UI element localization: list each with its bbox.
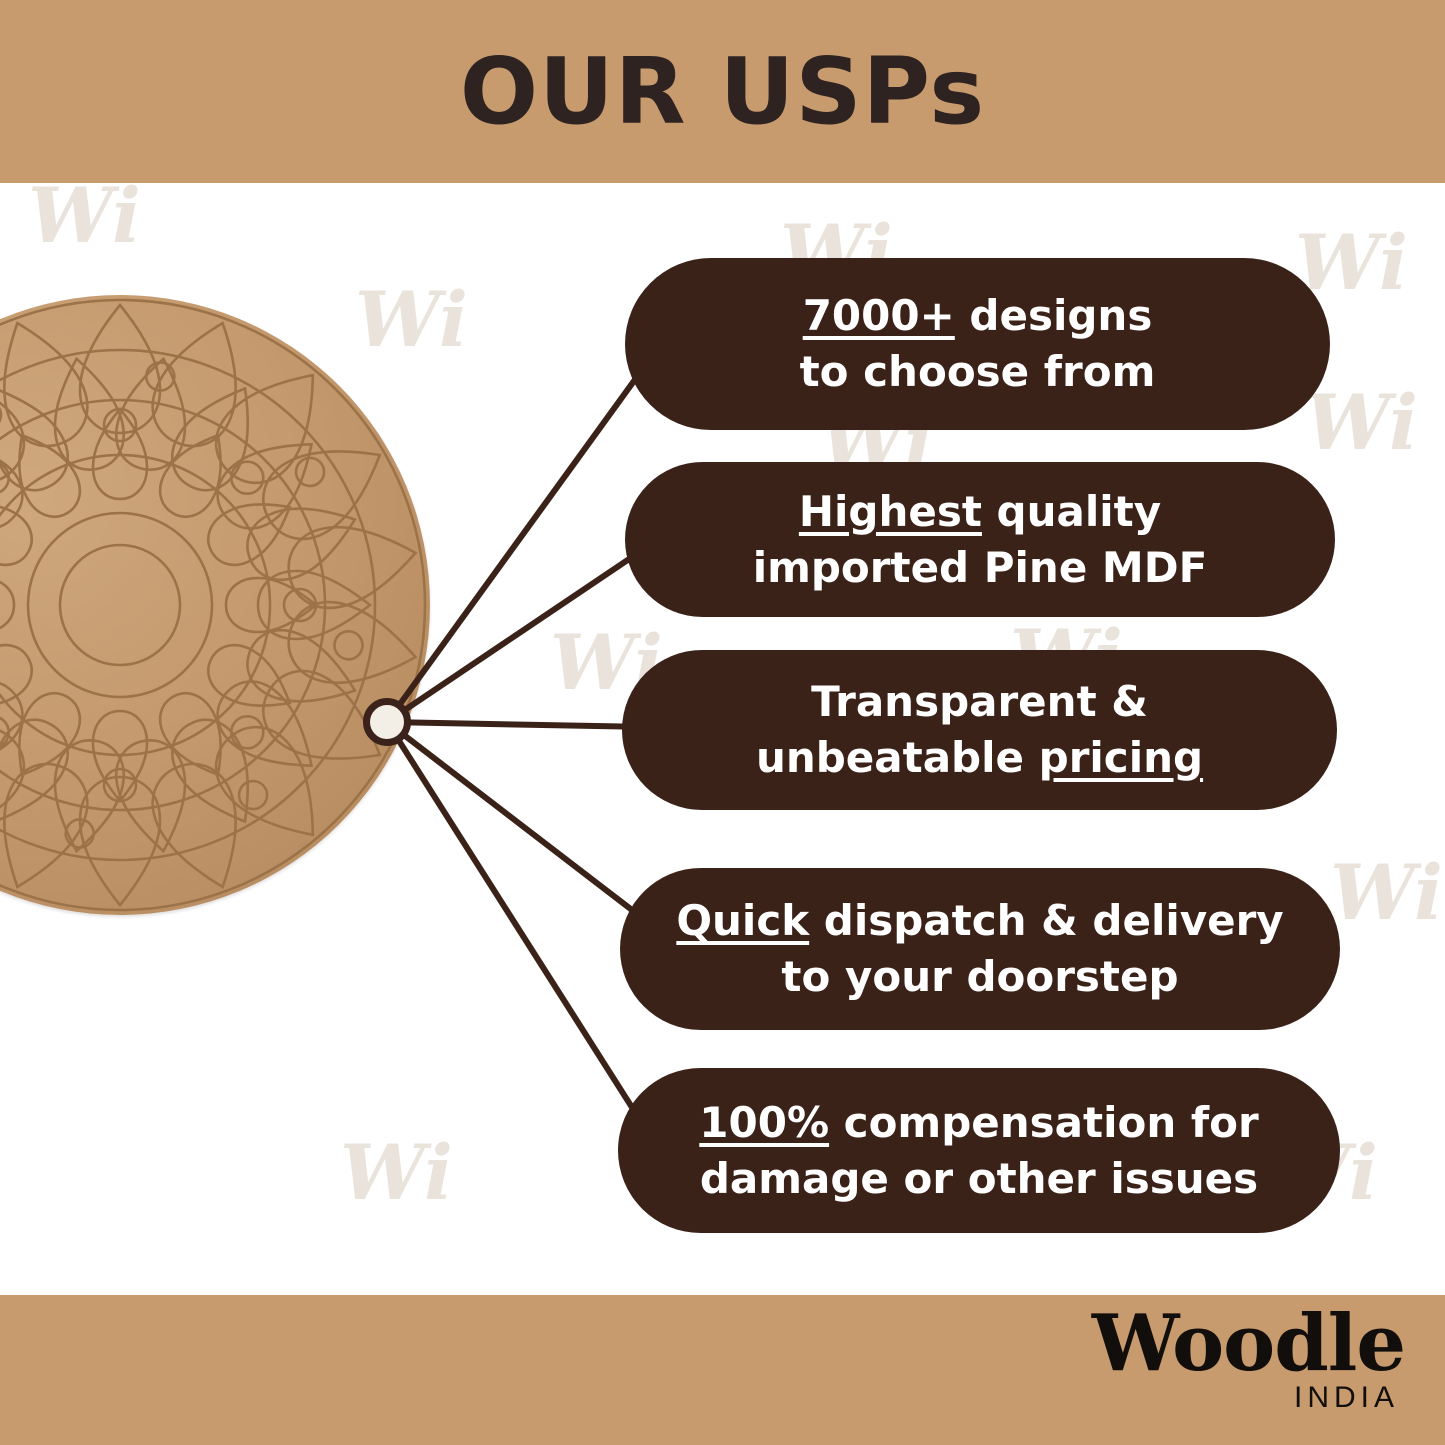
usp-pill-compensation[interactable]: 100% compensation for damage or other is… [618, 1068, 1340, 1233]
watermark-logo: Wi [1330, 855, 1443, 931]
usp-pill-pricing[interactable]: Transparent & unbeatable pricing [622, 650, 1337, 810]
brand-logo: Woodle INDIA [985, 1303, 1405, 1433]
brand-name: Woodle [985, 1303, 1405, 1385]
mandala-engraving [0, 295, 450, 955]
usp-dispatch-line2: to your doorstep [781, 952, 1178, 1001]
watermark-logo: Wi [1305, 385, 1418, 461]
page-title: OUR USPs [0, 0, 1445, 183]
usp-pill-designs[interactable]: 7000+ designs to choose from [625, 258, 1330, 430]
infographic-canvas: Wi Wi Wi Wi Wi Wi Wi Wi Wi Wi Wi [0, 0, 1445, 1445]
usp-pill-designs-text: 7000+ designs to choose from [655, 288, 1300, 400]
usp-quality-line1-rest: quality [982, 487, 1161, 536]
usp-quality-highlight: Highest [799, 487, 982, 536]
watermark-logo: Wi [28, 178, 141, 254]
usp-compensation-highlight: 100% [699, 1098, 829, 1147]
usp-designs-highlight: 7000+ [803, 291, 955, 340]
usp-pricing-highlight: pricing [1039, 733, 1203, 782]
usp-designs-line1-rest: designs [955, 291, 1153, 340]
usp-pill-compensation-text: 100% compensation for damage or other is… [648, 1095, 1310, 1207]
usp-pill-dispatch[interactable]: Quick dispatch & delivery to your doorst… [620, 868, 1340, 1030]
usp-quality-line2: imported Pine MDF [753, 543, 1208, 592]
usp-pricing-line2-rest: unbeatable [756, 733, 1039, 782]
usp-compensation-line2: damage or other issues [700, 1154, 1258, 1203]
usp-pill-pricing-text: Transparent & unbeatable pricing [652, 674, 1307, 786]
usp-pill-quality-text: Highest quality imported Pine MDF [655, 484, 1305, 596]
usp-pill-quality[interactable]: Highest quality imported Pine MDF [625, 462, 1335, 617]
usp-pill-dispatch-text: Quick dispatch & delivery to your doorst… [650, 893, 1310, 1005]
usp-dispatch-highlight: Quick [676, 896, 809, 945]
hub-node [363, 698, 411, 746]
usp-dispatch-line1-rest: dispatch & delivery [809, 896, 1284, 945]
usp-pricing-line1: Transparent & [811, 677, 1148, 726]
usp-compensation-line1-rest: compensation for [829, 1098, 1259, 1147]
watermark-logo: Wi [1295, 225, 1408, 301]
usp-designs-line2: to choose from [800, 347, 1156, 396]
